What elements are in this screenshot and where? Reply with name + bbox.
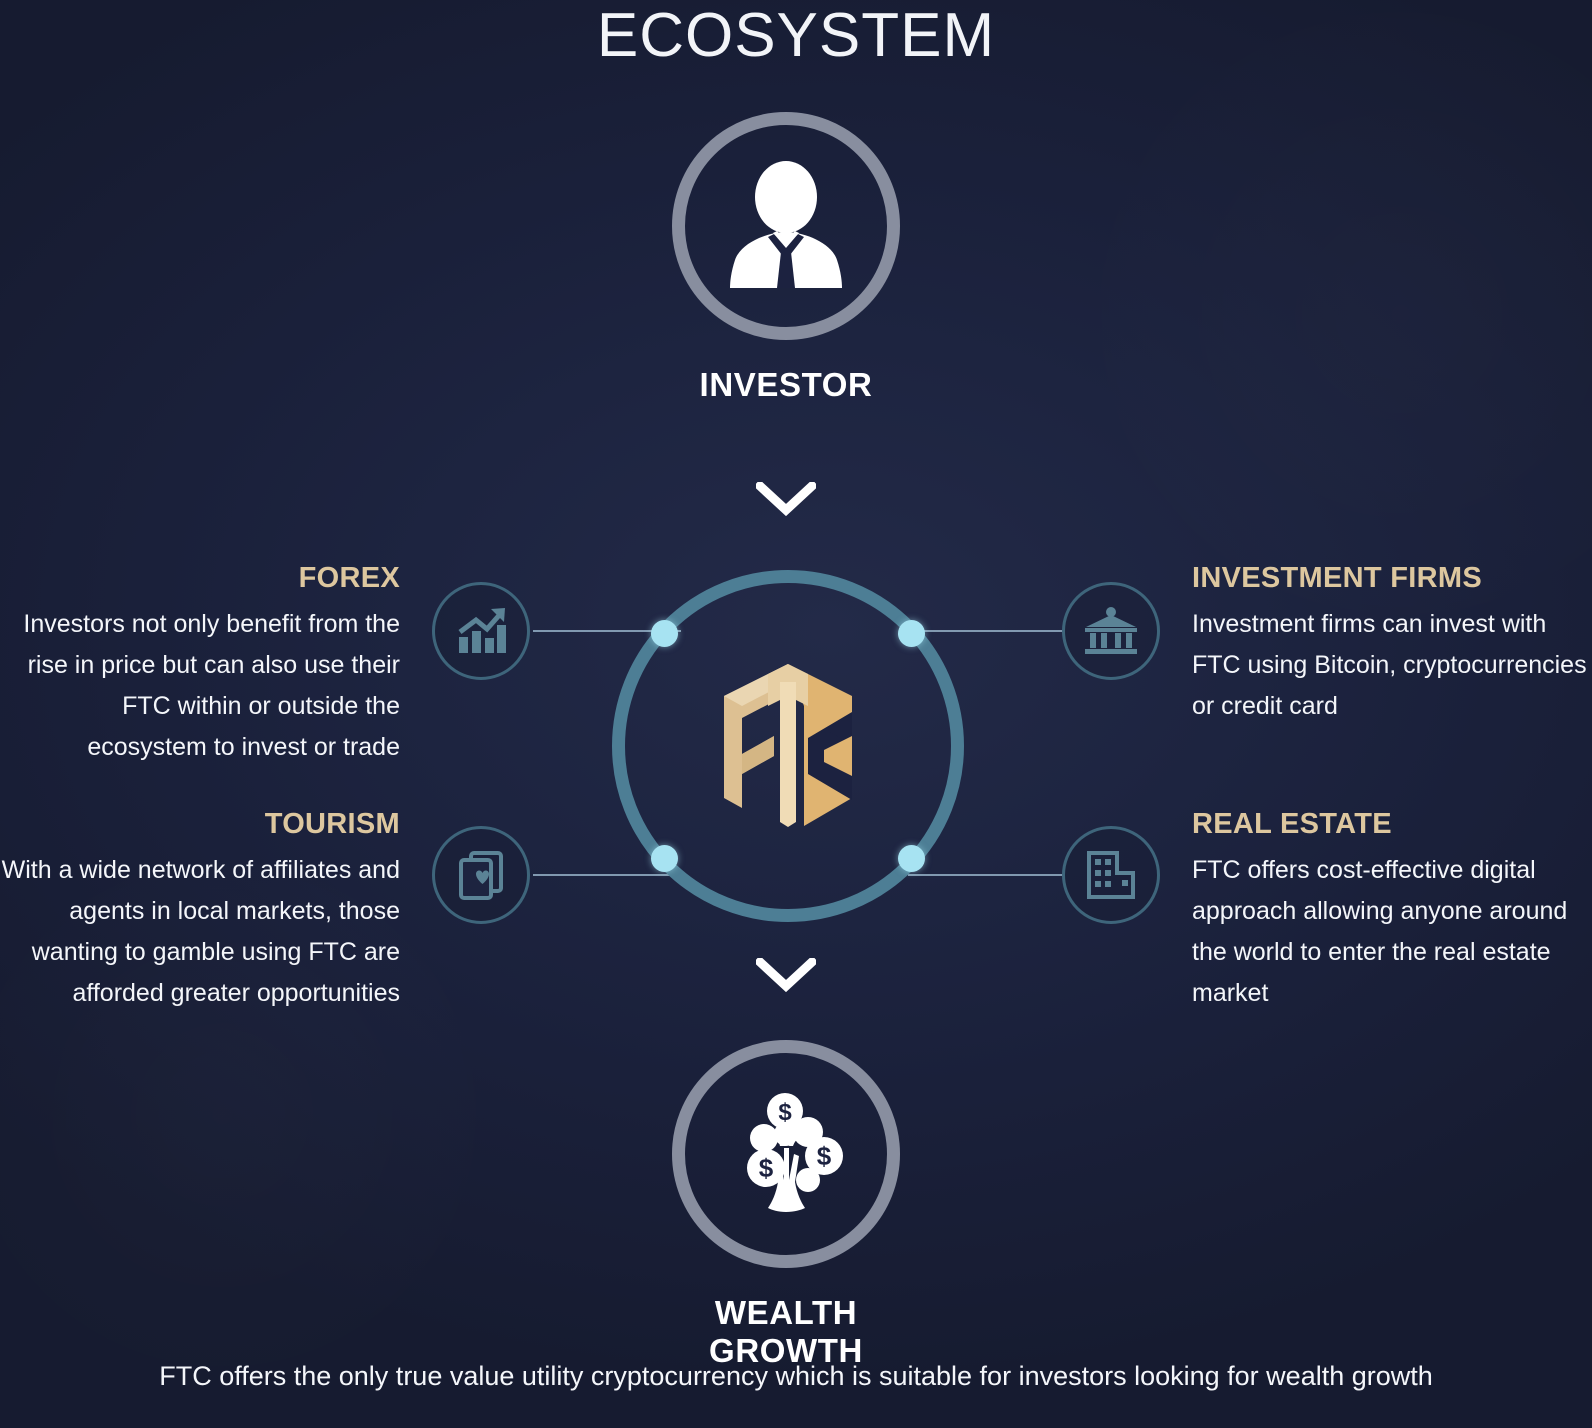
block-real-estate-body: FTC offers cost-effective digital approa… <box>1192 850 1592 1013</box>
office-building-icon <box>1085 849 1137 901</box>
svg-text:$: $ <box>759 1153 774 1183</box>
wealth-growth-ring: $ $ $ <box>672 1040 900 1268</box>
businessman-icon <box>711 160 861 292</box>
block-real-estate-heading: REAL ESTATE <box>1192 808 1592 841</box>
block-forex-heading: FOREX <box>0 562 400 595</box>
hub-dot-top-left <box>651 620 678 647</box>
icon-circle-forex[interactable] <box>432 582 530 680</box>
block-investment-firms-heading: INVESTMENT FIRMS <box>1192 562 1592 595</box>
block-tourism-heading: TOURISM <box>0 808 400 841</box>
chevron-down-top <box>756 482 816 516</box>
icon-circle-tourism[interactable] <box>432 826 530 924</box>
money-tree-icon: $ $ $ <box>716 1090 856 1218</box>
footer-caption: FTC offers the only true value utility c… <box>0 1358 1592 1396</box>
chevron-down-bottom <box>756 958 816 992</box>
hub-ftc <box>612 570 964 922</box>
icon-circle-investment-firms[interactable] <box>1062 582 1160 680</box>
block-forex: FOREX Investors not only benefit from th… <box>0 562 400 767</box>
block-investment-firms-body: Investment firms can invest with FTC usi… <box>1192 604 1592 726</box>
investor-label: INVESTOR <box>672 366 900 404</box>
block-investment-firms: INVESTMENT FIRMS Investment firms can in… <box>1192 562 1592 727</box>
node-wealth-growth: $ $ $ WEALTH GROWTH <box>672 1040 900 1370</box>
block-tourism-body: With a wide network of affiliates and ag… <box>0 850 400 1013</box>
playing-cards-icon <box>455 849 507 901</box>
page-title: ECOSYSTEM <box>0 2 1592 70</box>
ecosystem-infographic: ECOSYSTEM INVESTOR <box>0 0 1592 1428</box>
investor-ring <box>672 112 900 340</box>
block-forex-body: Investors not only benefit from the rise… <box>0 604 400 767</box>
ftc-logo-icon <box>712 662 864 830</box>
svg-text:$: $ <box>778 1099 792 1126</box>
icon-circle-real-estate[interactable] <box>1062 826 1160 924</box>
hub-dot-top-right <box>898 620 925 647</box>
bank-building-icon <box>1083 605 1139 657</box>
svg-text:$: $ <box>817 1141 832 1171</box>
chart-growth-icon <box>454 604 508 658</box>
block-tourism: TOURISM With a wide network of affiliate… <box>0 808 400 1013</box>
hub-dot-bottom-right <box>898 845 925 872</box>
node-investor: INVESTOR <box>672 112 900 404</box>
block-real-estate: REAL ESTATE FTC offers cost-effective di… <box>1192 808 1592 1013</box>
hub-dot-bottom-left <box>651 845 678 872</box>
